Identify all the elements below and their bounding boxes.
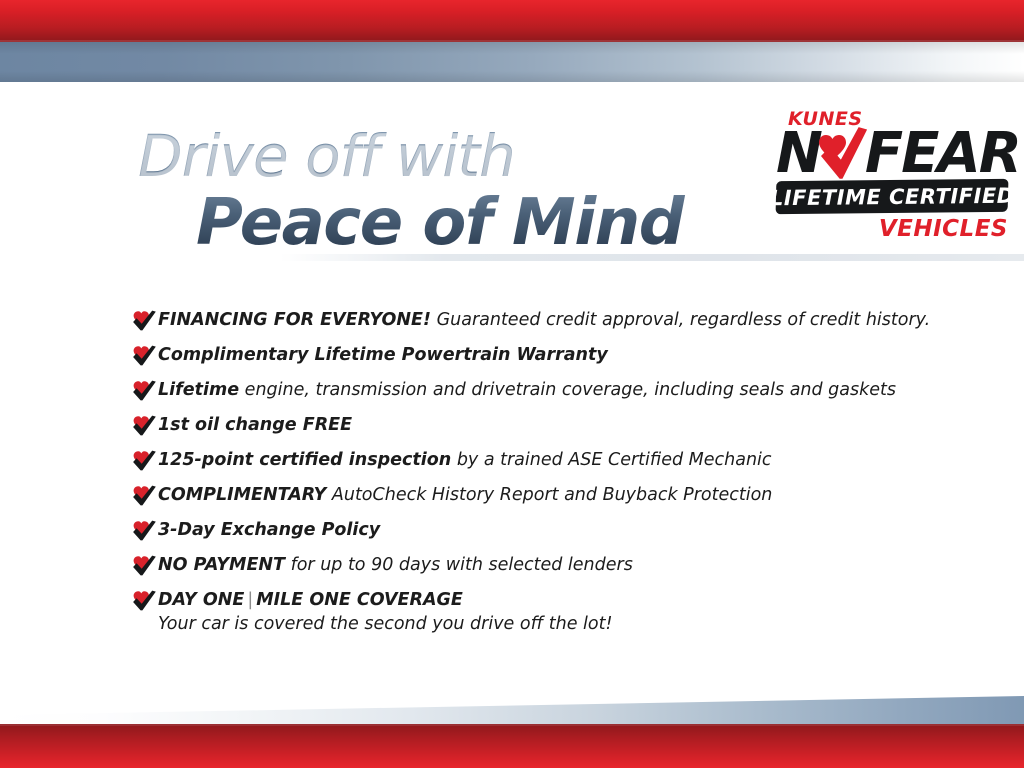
logo-banner-text: LIFETIME CERTIFIED (770, 183, 1015, 210)
heart-check-bullet-icon (130, 310, 158, 332)
list-item-text: Lifetime engine, transmission and drivet… (158, 378, 896, 401)
promo-card: Drive off with Peace of Mind KUNES N FEA… (0, 0, 1024, 768)
list-item: 125-point certified inspection by a trai… (130, 448, 960, 472)
list-item-text: DAY ONE|MILE ONE COVERAGE (158, 588, 463, 611)
logo-letter-n: N (776, 126, 820, 182)
list-item: COMPLIMENTARY AutoCheck History Report a… (130, 483, 960, 507)
list-item-regular: AutoCheck History Report and Buyback Pro… (326, 485, 772, 505)
list-item-strong: 125-point certified inspection (158, 450, 451, 470)
list-item-regular: for up to 90 days with selected lenders (285, 555, 633, 575)
heart-check-bullet-icon (130, 345, 158, 367)
heart-check-bullet-icon (130, 590, 158, 612)
list-item-strong-2: MILE ONE COVERAGE (256, 590, 463, 610)
list-item-text: 1st oil change FREE (158, 413, 352, 436)
list-item-text: Complimentary Lifetime Powertrain Warran… (158, 343, 608, 366)
list-item-regular: engine, transmission and drivetrain cove… (239, 380, 896, 400)
list-item: 3-Day Exchange Policy (130, 518, 960, 542)
list-item: NO PAYMENT for up to 90 days with select… (130, 553, 960, 577)
list-item-text: COMPLIMENTARY AutoCheck History Report a… (158, 483, 772, 506)
logo-wordmark: N FEAR (776, 126, 1020, 184)
logo-banner: LIFETIME CERTIFIED (776, 179, 1009, 214)
list-item-subline: Your car is covered the second you drive… (158, 612, 960, 636)
benefits-list: FINANCING FOR EVERYONE! Guaranteed credi… (130, 308, 960, 647)
headline: Drive off with Peace of Mind (138, 126, 758, 258)
list-item-strong: DAY ONE (158, 590, 244, 610)
list-item-regular: Guaranteed credit approval, regardless o… (431, 310, 930, 330)
logo-footer-text: VEHICLES (879, 216, 1008, 242)
top-red-band (0, 0, 1024, 42)
heart-check-bullet-icon (130, 485, 158, 507)
list-item-text: NO PAYMENT for up to 90 days with select… (158, 553, 633, 576)
heart-check-bullet-icon (130, 415, 158, 437)
list-item: Lifetime engine, transmission and drivet… (130, 378, 960, 402)
list-item: FINANCING FOR EVERYONE! Guaranteed credi… (130, 308, 960, 332)
bottom-red-band (0, 724, 1024, 768)
list-item-text: 125-point certified inspection by a trai… (158, 448, 772, 471)
heart-check-icon (816, 126, 870, 184)
heart-check-bullet-icon (130, 450, 158, 472)
list-item-strong: NO PAYMENT (158, 555, 285, 575)
headline-line-2: Peace of Mind (196, 188, 758, 258)
list-item-strong: FINANCING FOR EVERYONE! (158, 310, 431, 330)
list-item-text: 3-Day Exchange Policy (158, 518, 380, 541)
heart-check-bullet-icon (130, 555, 158, 577)
top-gray-band-shading (0, 42, 1024, 82)
list-item-strong: 1st oil change FREE (158, 415, 352, 435)
list-item-text: FINANCING FOR EVERYONE! Guaranteed credi… (158, 308, 930, 331)
list-item: Complimentary Lifetime Powertrain Warran… (130, 343, 960, 367)
bottom-gray-band (0, 696, 1024, 724)
list-item-strong: 3-Day Exchange Policy (158, 520, 380, 540)
list-item-separator: | (244, 590, 256, 610)
list-item: 1st oil change FREE (130, 413, 960, 437)
heart-check-bullet-icon (130, 380, 158, 402)
list-item-strong: COMPLIMENTARY (158, 485, 326, 505)
headline-line-1: Drive off with (138, 126, 758, 186)
kunes-no-fear-logo: KUNES N FEAR LIFETIME CERTIFIED VEHICLES (770, 106, 1014, 246)
list-item-strong: Lifetime (158, 380, 239, 400)
list-item-strong: Complimentary Lifetime Powertrain Warran… (158, 345, 608, 365)
heart-check-bullet-icon (130, 520, 158, 542)
list-item-regular: by a trained ASE Certified Mechanic (451, 450, 771, 470)
list-item: DAY ONE|MILE ONE COVERAGE Your car is co… (130, 588, 960, 636)
logo-word-fear: FEAR (865, 126, 1020, 182)
